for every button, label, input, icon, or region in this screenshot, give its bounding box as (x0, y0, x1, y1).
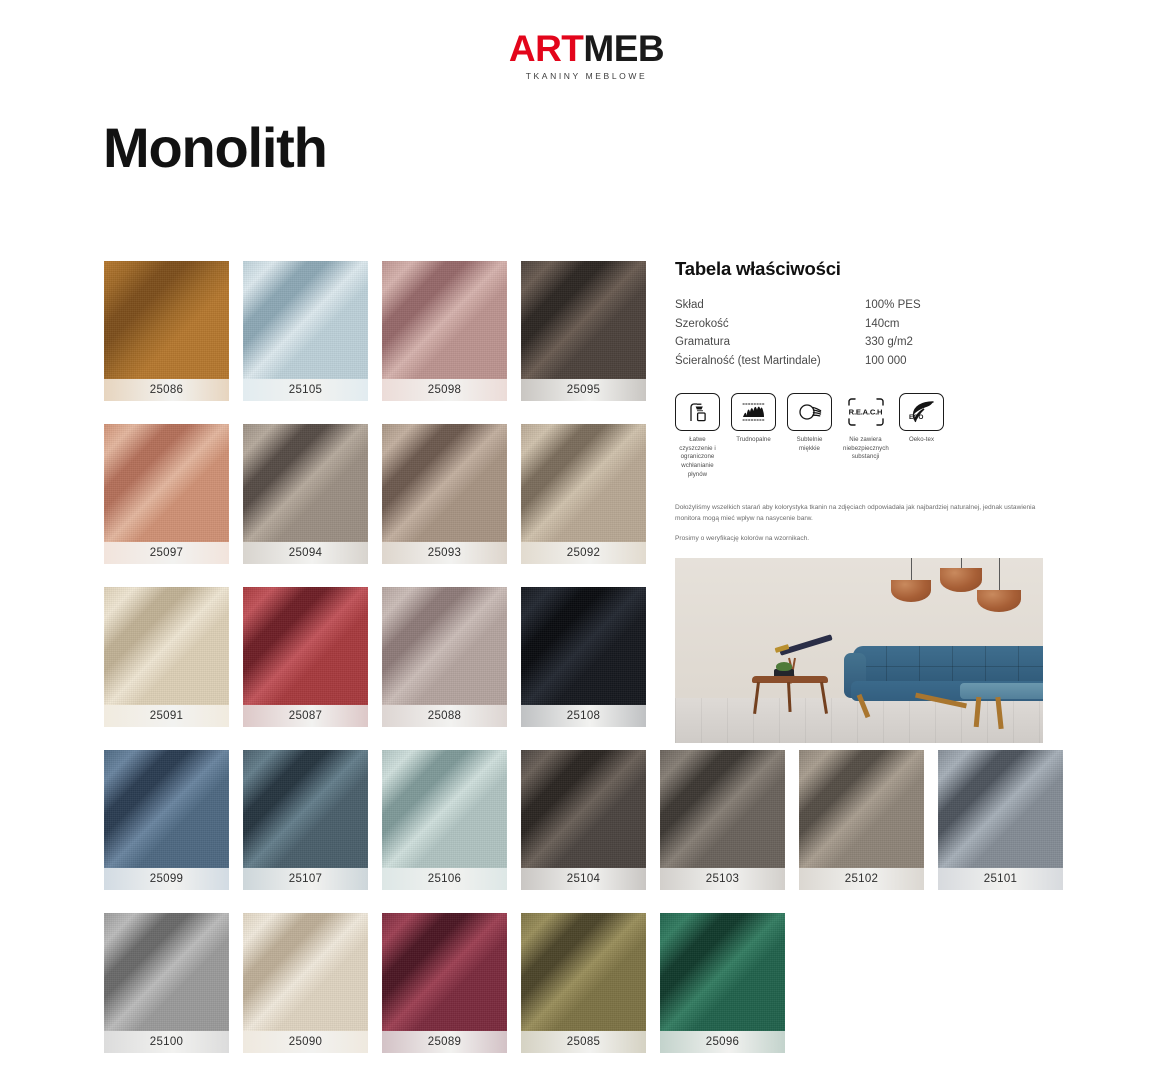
swatch-code-label: 25101 (938, 868, 1063, 890)
swatch-code-label: 25097 (104, 542, 229, 564)
fabric-swatch[interactable]: 25086 (104, 261, 229, 401)
swatch-row: 2510025090250892508525096 (104, 913, 1056, 1053)
feature-item: R.E.A.C.HNie zawiera niebezpiecznych sub… (843, 393, 888, 479)
disclaimer-line-2: Prosimy o weryfikację kolorów na wzornik… (675, 534, 1043, 545)
fabric-weave-texture (243, 750, 368, 868)
swatch-code-label: 25102 (799, 868, 924, 890)
fabric-swatch-image (382, 424, 507, 542)
fabric-weave-texture (382, 750, 507, 868)
lamp-dome (891, 580, 931, 602)
feature-caption: Oeko-tex (899, 436, 944, 445)
property-value: 100 000 (865, 354, 1045, 373)
fabric-weave-texture (104, 750, 229, 868)
flame-retardant-icon (731, 393, 776, 431)
swatch-code-label: 25099 (104, 868, 229, 890)
swatch-code-label: 25104 (521, 868, 646, 890)
fabric-swatch-image (521, 750, 646, 868)
fabric-swatch-image (243, 587, 368, 705)
fabric-swatch[interactable]: 25088 (382, 587, 507, 727)
logo-wordmark: ARTMEB (509, 30, 664, 67)
swatch-code-label: 25088 (382, 705, 507, 727)
fabric-weave-texture (382, 424, 507, 542)
fabric-swatch-image (938, 750, 1063, 868)
fabric-swatch-image (104, 424, 229, 542)
fabric-swatch-image (243, 424, 368, 542)
properties-panel: Tabela właściwości Skład100% PESSzerokoś… (675, 258, 1045, 743)
swatch-code-label: 25106 (382, 868, 507, 890)
fabric-weave-texture (938, 750, 1063, 868)
fabric-weave-texture (243, 587, 368, 705)
fabric-weave-texture (382, 261, 507, 379)
lamp-cord (999, 558, 1000, 590)
property-row: Ścieralność (test Martindale)100 000 (675, 354, 1045, 373)
reach-label: R.E.A.C.H (849, 408, 883, 417)
fabric-swatch[interactable]: 25099 (104, 750, 229, 890)
feature-caption: Nie zawiera niebezpiecznych substancji (843, 436, 888, 462)
lamp-cord (911, 558, 912, 580)
fabric-weave-texture (243, 913, 368, 1031)
fabric-weave-texture (104, 424, 229, 542)
logo-tagline: TKANINY MEBLOWE (526, 71, 648, 81)
lamp-dome (940, 568, 982, 592)
fabric-swatch-image (521, 424, 646, 542)
property-label: Skład (675, 298, 865, 317)
fabric-swatch[interactable]: 25103 (660, 750, 785, 890)
swatch-code-label: 25092 (521, 542, 646, 564)
fabric-swatch[interactable]: 25097 (104, 424, 229, 564)
properties-table: Skład100% PESSzerokość140cmGramatura330 … (675, 298, 1045, 372)
fabric-swatch-image (521, 913, 646, 1031)
fabric-swatch[interactable]: 25101 (938, 750, 1063, 890)
oeko-tex-leaf-icon: ECO (899, 393, 944, 431)
fabric-swatch[interactable]: 25106 (382, 750, 507, 890)
feature-item: ECOOeko-tex (899, 393, 944, 479)
swatch-code-label: 25098 (382, 379, 507, 401)
swatch-code-label: 25090 (243, 1031, 368, 1053)
fabric-weave-texture (799, 750, 924, 868)
fabric-swatch[interactable]: 25107 (243, 750, 368, 890)
fabric-swatch[interactable]: 25095 (521, 261, 646, 401)
page-title: Monolith (103, 119, 327, 178)
swatch-code-label: 25107 (243, 868, 368, 890)
feature-caption: Subtelnie miękkie (787, 436, 832, 453)
fabric-swatch-image (243, 750, 368, 868)
fabric-swatch[interactable]: 25090 (243, 913, 368, 1053)
fabric-swatch-image (382, 261, 507, 379)
swatch-code-label: 25093 (382, 542, 507, 564)
fabric-swatch[interactable]: 25092 (521, 424, 646, 564)
swatch-code-label: 25085 (521, 1031, 646, 1053)
fabric-swatch-image (382, 913, 507, 1031)
fabric-weave-texture (660, 750, 785, 868)
pendant-lamp-3 (977, 558, 1021, 616)
interior-photo (675, 558, 1043, 743)
fabric-swatch-image (660, 913, 785, 1031)
fabric-swatch[interactable]: 25087 (243, 587, 368, 727)
fabric-swatch-image (104, 913, 229, 1031)
feature-item: Trudnopalne (731, 393, 776, 479)
fabric-weave-texture (243, 424, 368, 542)
fabric-swatch[interactable]: 25100 (104, 913, 229, 1053)
fabric-swatch[interactable]: 25094 (243, 424, 368, 564)
fabric-swatch-image (521, 587, 646, 705)
disclaimer-line-1: Dołożyliśmy wszelkich starań aby kolorys… (675, 503, 1043, 524)
fabric-swatch[interactable]: 25085 (521, 913, 646, 1053)
fabric-weave-texture (521, 913, 646, 1031)
swatch-code-label: 25095 (521, 379, 646, 401)
logo-meb-text: MEB (583, 28, 664, 69)
fabric-swatch-image (382, 587, 507, 705)
fabric-swatch[interactable]: 25091 (104, 587, 229, 727)
eco-label: ECO (909, 414, 924, 421)
swatch-code-label: 25086 (104, 379, 229, 401)
brand-logo: ARTMEB TKANINY MEBLOWE (0, 30, 1173, 81)
feature-icons-row: Łatwe czyszczenie i ograniczone wchłania… (675, 393, 1045, 479)
lamp-dome (977, 590, 1021, 612)
succulent-plant (776, 662, 792, 671)
fabric-swatch-image (799, 750, 924, 868)
fabric-weave-texture (382, 913, 507, 1031)
fabric-swatch-image (660, 750, 785, 868)
fabric-weave-texture (382, 587, 507, 705)
fabric-swatch[interactable]: 25105 (243, 261, 368, 401)
fabric-catalog-page: ARTMEB TKANINY MEBLOWE Monolith 25086251… (0, 0, 1173, 1080)
photo-floor (675, 698, 1043, 743)
fabric-weave-texture (104, 913, 229, 1031)
fabric-swatch[interactable]: 25093 (382, 424, 507, 564)
fabric-swatch-image (382, 750, 507, 868)
fabric-swatch[interactable]: 25098 (382, 261, 507, 401)
swatch-code-label: 25100 (104, 1031, 229, 1053)
shower-easy-clean-icon (675, 393, 720, 431)
fabric-swatch[interactable]: 25102 (799, 750, 924, 890)
fabric-swatch[interactable]: 25089 (382, 913, 507, 1053)
property-label: Ścieralność (test Martindale) (675, 354, 865, 373)
fabric-swatch-image (104, 587, 229, 705)
fabric-weave-texture (660, 913, 785, 1031)
fabric-swatch-image (104, 261, 229, 379)
feature-item: Subtelnie miękkie (787, 393, 832, 479)
swatch-code-label: 25108 (521, 705, 646, 727)
property-label: Gramatura (675, 335, 865, 354)
fabric-swatch-image (243, 261, 368, 379)
fabric-weave-texture (104, 261, 229, 379)
swatch-code-label: 25094 (243, 542, 368, 564)
property-row: Skład100% PES (675, 298, 1045, 317)
reach-certificate-icon: R.E.A.C.H (843, 393, 888, 431)
fabric-weave-texture (243, 261, 368, 379)
swatch-code-label: 25103 (660, 868, 785, 890)
property-value: 100% PES (865, 298, 1045, 317)
fabric-weave-texture (521, 261, 646, 379)
swatch-code-label: 25096 (660, 1031, 785, 1053)
pendant-lamp-1 (891, 558, 931, 608)
feature-caption: Trudnopalne (731, 436, 776, 445)
property-row: Gramatura330 g/m2 (675, 335, 1045, 354)
swatch-code-label: 25089 (382, 1031, 507, 1053)
property-row: Szerokość140cm (675, 317, 1045, 336)
bench-seat (960, 683, 1043, 699)
fabric-swatch[interactable]: 25108 (521, 587, 646, 727)
swatch-row: 25099251072510625104251032510225101 (104, 750, 1056, 890)
fabric-weave-texture (104, 587, 229, 705)
pendant-lamp-2 (940, 558, 982, 602)
feature-item: Łatwe czyszczenie i ograniczone wchłania… (675, 393, 720, 479)
logo-art-text: ART (509, 28, 584, 69)
property-value: 140cm (865, 317, 1045, 336)
swatch-code-label: 25091 (104, 705, 229, 727)
property-value: 330 g/m2 (865, 335, 1045, 354)
fabric-weave-texture (521, 424, 646, 542)
properties-heading: Tabela właściwości (675, 258, 1045, 280)
fabric-swatch[interactable]: 25096 (660, 913, 785, 1053)
lamp-cord (961, 558, 962, 568)
feature-caption: Łatwe czyszczenie i ograniczone wchłania… (675, 436, 720, 479)
fabric-swatch-image (104, 750, 229, 868)
fabric-swatch-image (243, 913, 368, 1031)
swatch-code-label: 25105 (243, 379, 368, 401)
fabric-swatch[interactable]: 25104 (521, 750, 646, 890)
soft-touch-icon (787, 393, 832, 431)
color-disclaimer: Dołożyliśmy wszelkich starań aby kolorys… (675, 503, 1045, 544)
property-label: Szerokość (675, 317, 865, 336)
fabric-weave-texture (521, 587, 646, 705)
swatch-code-label: 25087 (243, 705, 368, 727)
fabric-weave-texture (521, 750, 646, 868)
fabric-swatch-image (521, 261, 646, 379)
